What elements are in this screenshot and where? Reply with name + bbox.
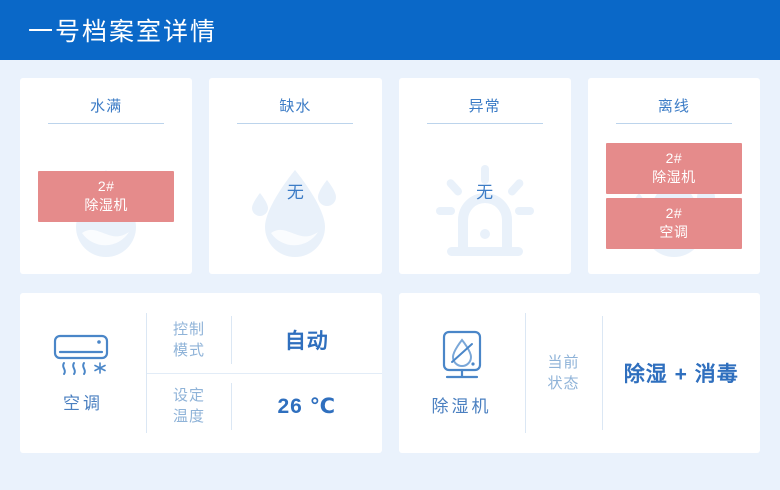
status-card-row: 水满 2# 除湿机 缺水 bbox=[20, 78, 760, 274]
device-attribute-row: 当前 状态 除湿 + 消毒 bbox=[526, 307, 761, 439]
title-divider bbox=[237, 123, 353, 124]
attribute-value: 26 ℃ bbox=[232, 394, 382, 419]
page-content: 水满 2# 除湿机 缺水 bbox=[0, 60, 780, 453]
status-card-title: 离线 bbox=[658, 95, 690, 116]
status-value: 无 bbox=[287, 178, 304, 203]
dehumidifier-icon bbox=[435, 330, 489, 384]
status-card-abnormal[interactable]: 异常 无 bbox=[399, 78, 571, 274]
device-identity: 空调 bbox=[20, 307, 146, 439]
device-card-air-conditioner[interactable]: 空调 控制 模式 自动 设定 温度 bbox=[20, 293, 382, 453]
attribute-value: 除湿 + 消毒 bbox=[603, 358, 761, 388]
status-card-title: 缺水 bbox=[279, 95, 311, 116]
status-card-body: 2# 除湿机 2# 空调 bbox=[588, 124, 760, 274]
badge-device-name: 空调 bbox=[606, 223, 742, 242]
attribute-label-line1: 设定 bbox=[147, 385, 231, 406]
device-badge[interactable]: 2# 空调 bbox=[606, 198, 742, 249]
device-card-row: 空调 控制 模式 自动 设定 温度 bbox=[20, 293, 760, 453]
device-name: 除湿机 bbox=[432, 392, 492, 417]
status-card-title: 异常 bbox=[469, 95, 501, 116]
attribute-label-line2: 状态 bbox=[526, 373, 602, 394]
status-card-title: 水满 bbox=[90, 95, 122, 116]
badge-device-name: 除湿机 bbox=[606, 168, 742, 187]
device-attribute-row: 控制 模式 自动 bbox=[147, 307, 382, 373]
attribute-label-line1: 当前 bbox=[526, 352, 602, 373]
status-card-water-full[interactable]: 水满 2# 除湿机 bbox=[20, 78, 192, 274]
attribute-label: 当前 状态 bbox=[526, 352, 602, 394]
attribute-label-line2: 模式 bbox=[147, 340, 231, 361]
device-attribute-table: 当前 状态 除湿 + 消毒 bbox=[526, 307, 761, 439]
badge-number: 2# bbox=[606, 149, 742, 168]
air-conditioner-icon bbox=[51, 333, 115, 381]
attribute-label-line2: 温度 bbox=[147, 406, 231, 427]
status-card-water-shortage[interactable]: 缺水 无 bbox=[209, 78, 381, 274]
device-badge[interactable]: 2# 除湿机 bbox=[38, 171, 174, 222]
attribute-label: 设定 温度 bbox=[147, 385, 231, 427]
device-badge[interactable]: 2# 除湿机 bbox=[606, 143, 742, 194]
attribute-value: 自动 bbox=[232, 325, 382, 355]
status-card-body: 无 bbox=[209, 124, 381, 274]
page-header: 一号档案室详情 bbox=[0, 0, 780, 60]
device-card-dehumidifier[interactable]: 除湿机 当前 状态 除湿 + 消毒 bbox=[399, 293, 761, 453]
attribute-label-line1: 控制 bbox=[147, 319, 231, 340]
device-name: 空调 bbox=[63, 389, 103, 414]
title-divider bbox=[616, 123, 732, 124]
badge-number: 2# bbox=[606, 204, 742, 223]
device-identity: 除湿机 bbox=[399, 307, 525, 439]
badge-number: 2# bbox=[38, 177, 174, 196]
badge-list: 2# 除湿机 bbox=[20, 171, 192, 222]
badge-device-name: 除湿机 bbox=[38, 196, 174, 215]
status-card-body: 2# 除湿机 bbox=[20, 124, 192, 274]
status-value: 无 bbox=[476, 178, 493, 203]
title-divider bbox=[48, 123, 164, 124]
status-card-offline[interactable]: 离线 2# 除湿机 2# 空调 bbox=[588, 78, 760, 274]
status-card-body: 无 bbox=[399, 124, 571, 274]
device-attribute-row: 设定 温度 26 ℃ bbox=[147, 373, 382, 440]
page-title: 一号档案室详情 bbox=[28, 12, 217, 48]
attribute-label: 控制 模式 bbox=[147, 319, 231, 361]
badge-list: 2# 除湿机 2# 空调 bbox=[588, 143, 760, 249]
title-divider bbox=[427, 123, 543, 124]
device-attribute-table: 控制 模式 自动 设定 温度 26 ℃ bbox=[147, 307, 382, 439]
